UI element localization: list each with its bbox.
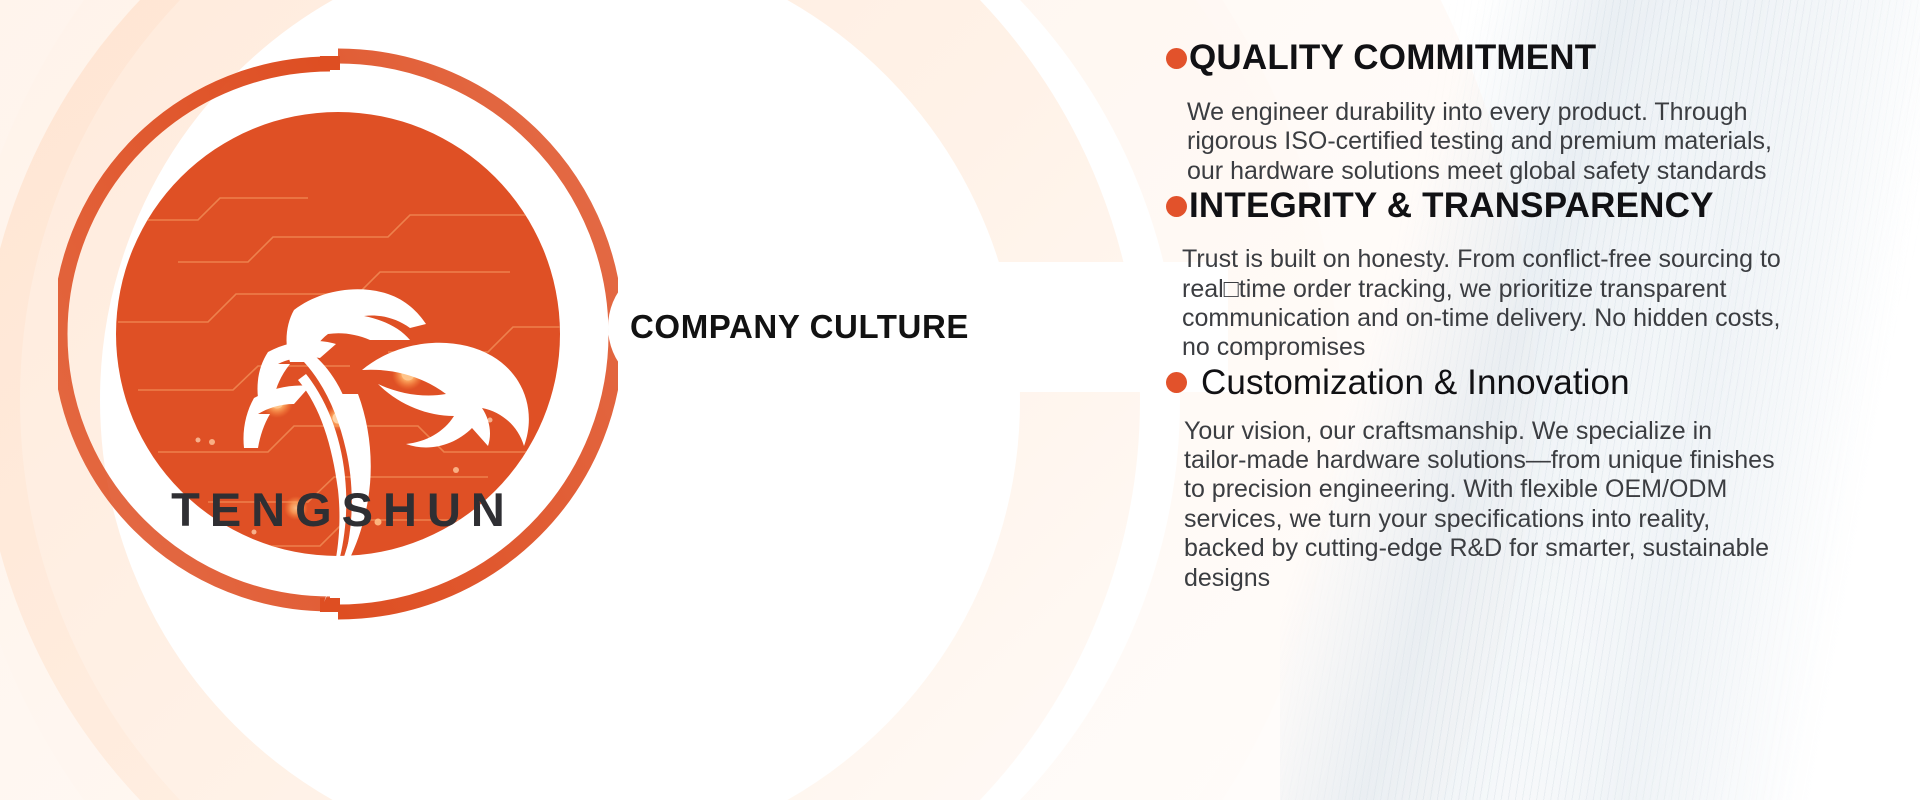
section-body: Your vision, our craftsmanship. We speci… — [1184, 417, 1902, 593]
culture-sections: QUALITY COMMITMENT We engineer durabilit… — [1166, 38, 1902, 778]
culture-section-integrity: INTEGRITY & TRANSPARENCY Trust is built … — [1166, 186, 1902, 363]
section-heading: INTEGRITY & TRANSPARENCY — [1189, 186, 1714, 226]
eagle-logo-icon — [58, 22, 618, 642]
orange-dot-icon — [1166, 372, 1187, 393]
company-culture-label: COMPANY CULTURE — [630, 308, 969, 346]
culture-section-quality: QUALITY COMMITMENT We engineer durabilit… — [1166, 38, 1902, 186]
section-heading: Customization & Innovation — [1201, 363, 1630, 403]
section-body: We engineer durability into every produc… — [1187, 98, 1902, 186]
section-heading-row: INTEGRITY & TRANSPARENCY — [1166, 186, 1902, 226]
brand-wordmark: TENGSHUN — [58, 482, 618, 537]
company-culture-badge: COMPANY CULTURE — [608, 262, 1228, 392]
section-heading-row: QUALITY COMMITMENT — [1166, 38, 1902, 78]
section-body: Trust is built on honesty. From conflict… — [1182, 245, 1902, 363]
orange-dot-icon — [1166, 48, 1187, 69]
company-culture-banner: TENGSHUN COMPANY CULTURE QUALITY COMMITM… — [0, 0, 1920, 800]
orange-dot-icon — [1166, 196, 1187, 217]
section-heading-row: Customization & Innovation — [1166, 363, 1902, 403]
section-heading: QUALITY COMMITMENT — [1189, 38, 1596, 78]
brand-logo: TENGSHUN — [58, 22, 618, 642]
culture-section-customization: Customization & Innovation Your vision, … — [1166, 363, 1902, 593]
